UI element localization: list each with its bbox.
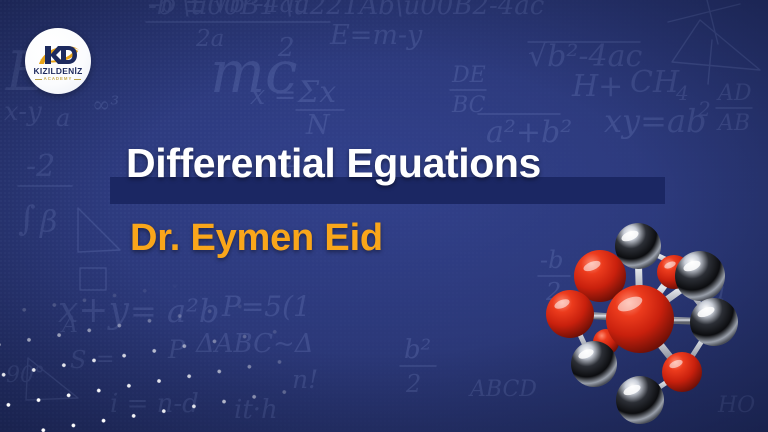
svg-text:A: A: [60, 313, 78, 338]
svg-text:b²: b²: [404, 335, 431, 365]
logo-rule-right: [74, 79, 81, 80]
dot-grid-decoration: [0, 266, 308, 432]
headline-block: Differential Eguations Dr. Eymen Eid: [0, 143, 768, 184]
svg-text:a: a: [56, 104, 70, 132]
svg-text:√b²-4ac: √b²-4ac: [528, 39, 642, 74]
svg-text:β: β: [39, 205, 57, 240]
svg-text:∞³: ∞³: [92, 93, 119, 118]
svg-text:2a: 2a: [195, 26, 224, 52]
svg-text:2: 2: [697, 97, 711, 121]
logo-rule-left: [35, 79, 42, 80]
svg-text:x-y: x-y: [4, 97, 42, 127]
halftone-texture: [0, 0, 768, 432]
svg-text:x =: x =: [250, 80, 296, 111]
svg-text:2: 2: [277, 33, 295, 63]
svg-text:E=m-y: E=m-y: [329, 20, 423, 51]
svg-text:BC: BC: [451, 93, 486, 118]
svg-text:-b \u00B1 \u221Ab\u00B2-4ac: -b \u00B1 \u221Ab\u00B2-4ac: [148, 0, 545, 21]
logo-brand-sub: ACADEMY: [44, 77, 73, 81]
logo-sub-row: ACADEMY: [35, 77, 82, 81]
svg-text:= a²b: = a²b: [130, 292, 219, 330]
svg-text:n!: n!: [292, 365, 318, 394]
instructor-name: Dr. Eymen Eid: [130, 219, 383, 257]
svg-text:xy=ab: xy=ab: [604, 102, 707, 140]
svg-text:-b: -b: [540, 246, 563, 274]
svg-text:P: P: [167, 335, 186, 364]
vignette-overlay: [0, 0, 768, 432]
svg-text:4: 4: [675, 81, 689, 105]
svg-text:CH: CH: [630, 65, 680, 100]
svg-text:DE: DE: [451, 63, 486, 88]
svg-text:2: 2: [405, 370, 421, 398]
svg-text:AD: AD: [716, 81, 752, 106]
page-title: Differential Eguations: [126, 143, 768, 184]
title-slide: -b \u00B1 \u221Ab\u00B2-4ac –b ± √b²-4ac…: [0, 0, 768, 432]
svg-text:HO: HO: [717, 393, 755, 418]
svg-text:∫: ∫: [18, 199, 36, 239]
math-formula-background: -b \u00B1 \u221Ab\u00B2-4ac –b ± √b²-4ac…: [0, 0, 768, 432]
svg-text:=: =: [96, 347, 114, 372]
svg-text:Σx: Σx: [297, 75, 336, 110]
svg-text:90°: 90°: [6, 363, 45, 388]
svg-text:ΔABC~Δ: ΔABC~Δ: [195, 329, 314, 359]
brand-logo: KIZILDENİZ ACADEMY: [25, 28, 91, 94]
svg-text:mc: mc: [210, 38, 297, 106]
svg-text:i = n-d: i = n-d: [110, 389, 199, 419]
svg-text:Ca: Ca: [690, 277, 725, 307]
svg-text:ABCD: ABCD: [468, 377, 537, 402]
svg-text:it·h: it·h: [234, 395, 278, 425]
svg-text:S: S: [70, 346, 86, 374]
logo-brand-name: KIZILDENİZ: [33, 67, 82, 75]
svg-text:H+: H+: [571, 69, 623, 104]
svg-text:P=5(1: P=5(1: [221, 290, 311, 323]
molecule-illustration: [528, 214, 750, 432]
svg-text:x+y: x+y: [58, 290, 129, 331]
kd-monogram-icon: [36, 42, 80, 66]
svg-text:AB: AB: [716, 111, 750, 136]
svg-text:2: 2: [545, 278, 561, 306]
svg-text:N: N: [305, 110, 331, 141]
svg-text:–b ± √b²-4ac: –b ± √b²-4ac: [148, 0, 309, 18]
